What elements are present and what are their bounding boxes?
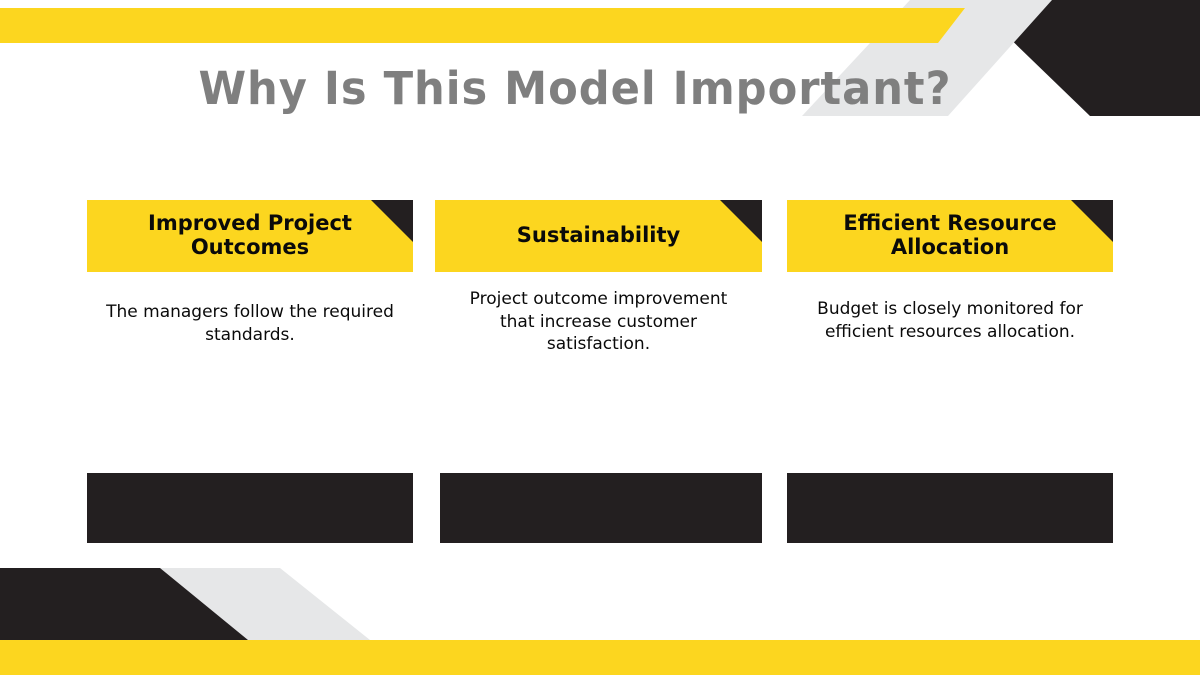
card-header-2[interactable]: Sustainability	[435, 200, 762, 272]
column-3: Efficient Resource Allocation Budget is …	[787, 200, 1113, 343]
card-title-3: Efficient Resource Allocation	[801, 212, 1099, 260]
bottom-left-gray-wedge	[150, 568, 370, 640]
card-header-1[interactable]: Improved Project Outcomes	[87, 200, 413, 272]
bottom-yellow-band	[0, 640, 1200, 675]
card-body-1: The managers follow the required standar…	[87, 301, 413, 346]
corner-triangle-icon	[720, 200, 762, 242]
image-placeholder-2[interactable]	[440, 473, 762, 543]
image-placeholder-3[interactable]	[787, 473, 1113, 543]
card-title-2: Sustainability	[517, 224, 680, 248]
card-title-1: Improved Project Outcomes	[101, 212, 399, 260]
top-yellow-band	[0, 8, 965, 43]
image-placeholder-1[interactable]	[87, 473, 413, 543]
card-body-3: Budget is closely monitored for efficien…	[787, 298, 1113, 343]
bottom-left-dark-wedge	[0, 568, 248, 640]
card-header-3[interactable]: Efficient Resource Allocation	[787, 200, 1113, 272]
column-1: Improved Project Outcomes The managers f…	[87, 200, 413, 346]
card-body-2: Project outcome improvement that increas…	[435, 288, 762, 356]
column-2: Sustainability Project outcome improveme…	[435, 200, 762, 356]
slide-canvas: Why Is This Model Important? Improved Pr…	[0, 0, 1200, 675]
slide-title: Why Is This Model Important?	[23, 62, 1127, 115]
